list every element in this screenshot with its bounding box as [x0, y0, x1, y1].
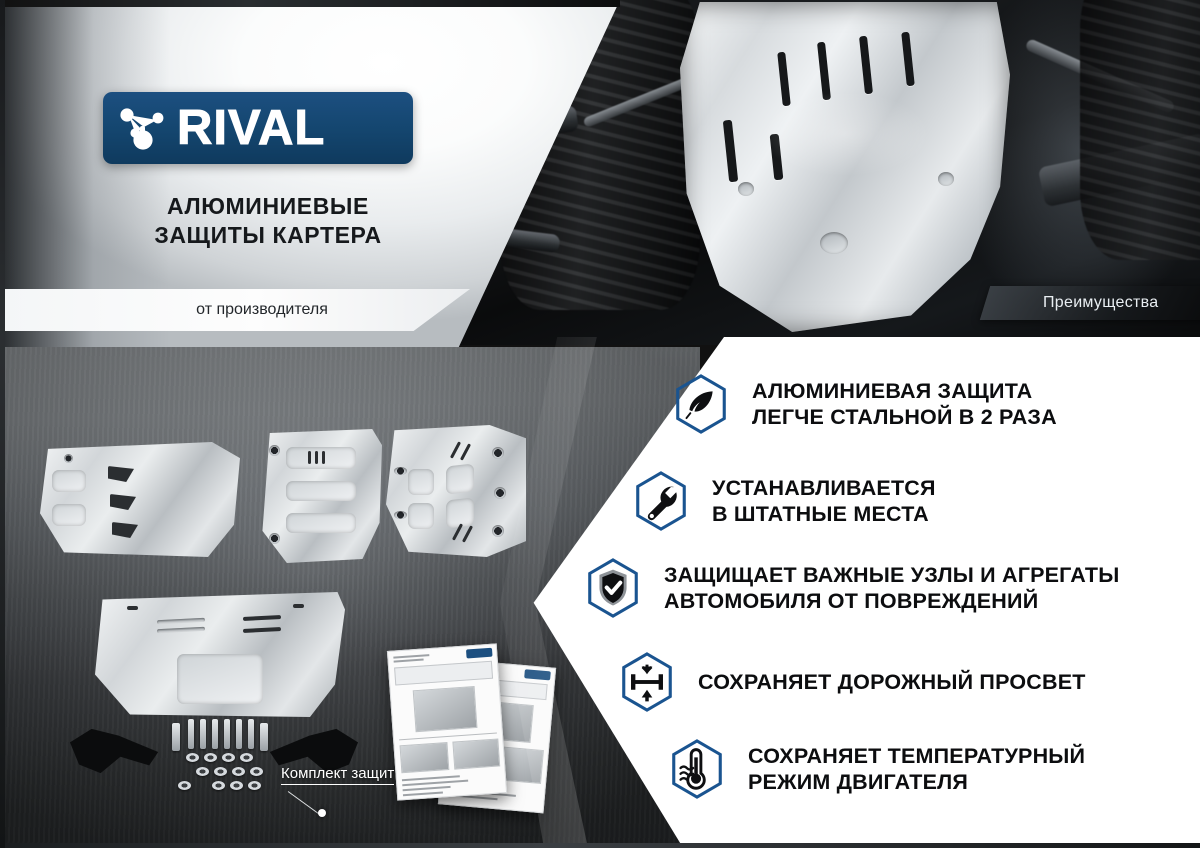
feature-fitment-line1: УСТАНАВЛИВАЕТСЯ — [712, 475, 936, 501]
ground-clearance-icon — [616, 651, 678, 713]
feature-item-fitment: УСТАНАВЛИВАЕТСЯ В ШТАТНЫЕ МЕСТА — [630, 470, 936, 532]
feature-fitment-line2: В ШТАТНЫЕ МЕСТА — [712, 501, 936, 527]
rival-logo: RIVAL — [103, 92, 413, 164]
skid-plate-c — [386, 425, 526, 557]
header-top-rule — [0, 0, 620, 7]
tire-shape — [1080, 0, 1200, 260]
advantages-ribbon: Преимущества — [980, 286, 1200, 320]
molecule-icon — [117, 102, 169, 154]
page-title-line1: АЛЮМИНИЕВЫЕ — [103, 192, 433, 221]
callout-kit-dot — [318, 809, 326, 817]
hero-skid-plate — [680, 2, 1010, 332]
feature-item-protection: ЗАЩИЩАЕТ ВАЖНЫЕ УЗЛЫ И АГРЕГАТЫ АВТОМОБИ… — [582, 557, 1119, 619]
feature-weight-line1: АЛЮМИНИЕВАЯ ЗАЩИТА — [752, 378, 1057, 404]
feature-item-clearance: СОХРАНЯЕТ ДОРОЖНЫЙ ПРОСВЕТ — [616, 651, 1086, 713]
bottom-border — [0, 843, 1200, 848]
wrench-icon — [630, 470, 692, 532]
shield-check-icon — [582, 557, 644, 619]
feature-protection-line2: АВТОМОБИЛЯ ОТ ПОВРЕЖДЕНИЙ — [664, 588, 1119, 614]
page-title: АЛЮМИНИЕВЫЕ ЗАЩИТЫ КАРТЕРА — [103, 192, 433, 251]
feature-item-weight: АЛЮМИНИЕВАЯ ЗАЩИТА ЛЕГЧЕ СТАЛЬНОЙ В 2 РА… — [670, 373, 1057, 435]
instruction-sheet-front — [387, 643, 507, 800]
feature-temperature-line2: РЕЖИМ ДВИГАТЕЛЯ — [748, 769, 1085, 795]
thermometer-icon — [666, 738, 728, 800]
skid-plate-b — [260, 429, 382, 563]
feature-temperature-text: СОХРАНЯЕТ ТЕМПЕРАТУРНЫЙ РЕЖИМ ДВИГАТЕЛЯ — [748, 743, 1085, 795]
feature-protection-text: ЗАЩИЩАЕТ ВАЖНЫЕ УЗЛЫ И АГРЕГАТЫ АВТОМОБИ… — [664, 562, 1119, 614]
header-subtitle-bar: от производителя — [0, 289, 470, 331]
page-title-line2: ЗАЩИТЫ КАРТЕРА — [103, 221, 433, 250]
skid-plate-large — [95, 592, 345, 717]
feature-fitment-text: УСТАНАВЛИВАЕТСЯ В ШТАТНЫЕ МЕСТА — [712, 475, 936, 527]
feature-clearance-line1: СОХРАНЯЕТ ДОРОЖНЫЙ ПРОСВЕТ — [698, 669, 1086, 695]
feather-icon — [670, 373, 732, 435]
advantages-ribbon-label: Преимущества — [1043, 294, 1158, 312]
feature-item-temperature: СОХРАНЯЕТ ТЕМПЕРАТУРНЫЙ РЕЖИМ ДВИГАТЕЛЯ — [666, 738, 1085, 800]
feature-protection-line1: ЗАЩИЩАЕТ ВАЖНЫЕ УЗЛЫ И АГРЕГАТЫ — [664, 562, 1119, 588]
callout-kit: Комплект защит — [281, 765, 394, 785]
brand-wordmark: RIVAL — [177, 104, 325, 153]
feature-temperature-line1: СОХРАНЯЕТ ТЕМПЕРАТУРНЫЙ — [748, 743, 1085, 769]
promo-banner: RIVAL АЛЮМИНИЕВЫЕ ЗАЩИТЫ КАРТЕРА от прои… — [0, 0, 1200, 848]
left-border — [0, 0, 5, 848]
feature-clearance-text: СОХРАНЯЕТ ДОРОЖНЫЙ ПРОСВЕТ — [698, 669, 1086, 695]
callout-kit-label: Комплект защит — [281, 765, 394, 782]
skid-plate-a — [40, 442, 240, 557]
feature-weight-line2: ЛЕГЧЕ СТАЛЬНОЙ В 2 РАЗА — [752, 404, 1057, 430]
header-subtitle: от производителя — [142, 301, 328, 319]
feature-weight-text: АЛЮМИНИЕВАЯ ЗАЩИТА ЛЕГЧЕ СТАЛЬНОЙ В 2 РА… — [752, 378, 1057, 430]
